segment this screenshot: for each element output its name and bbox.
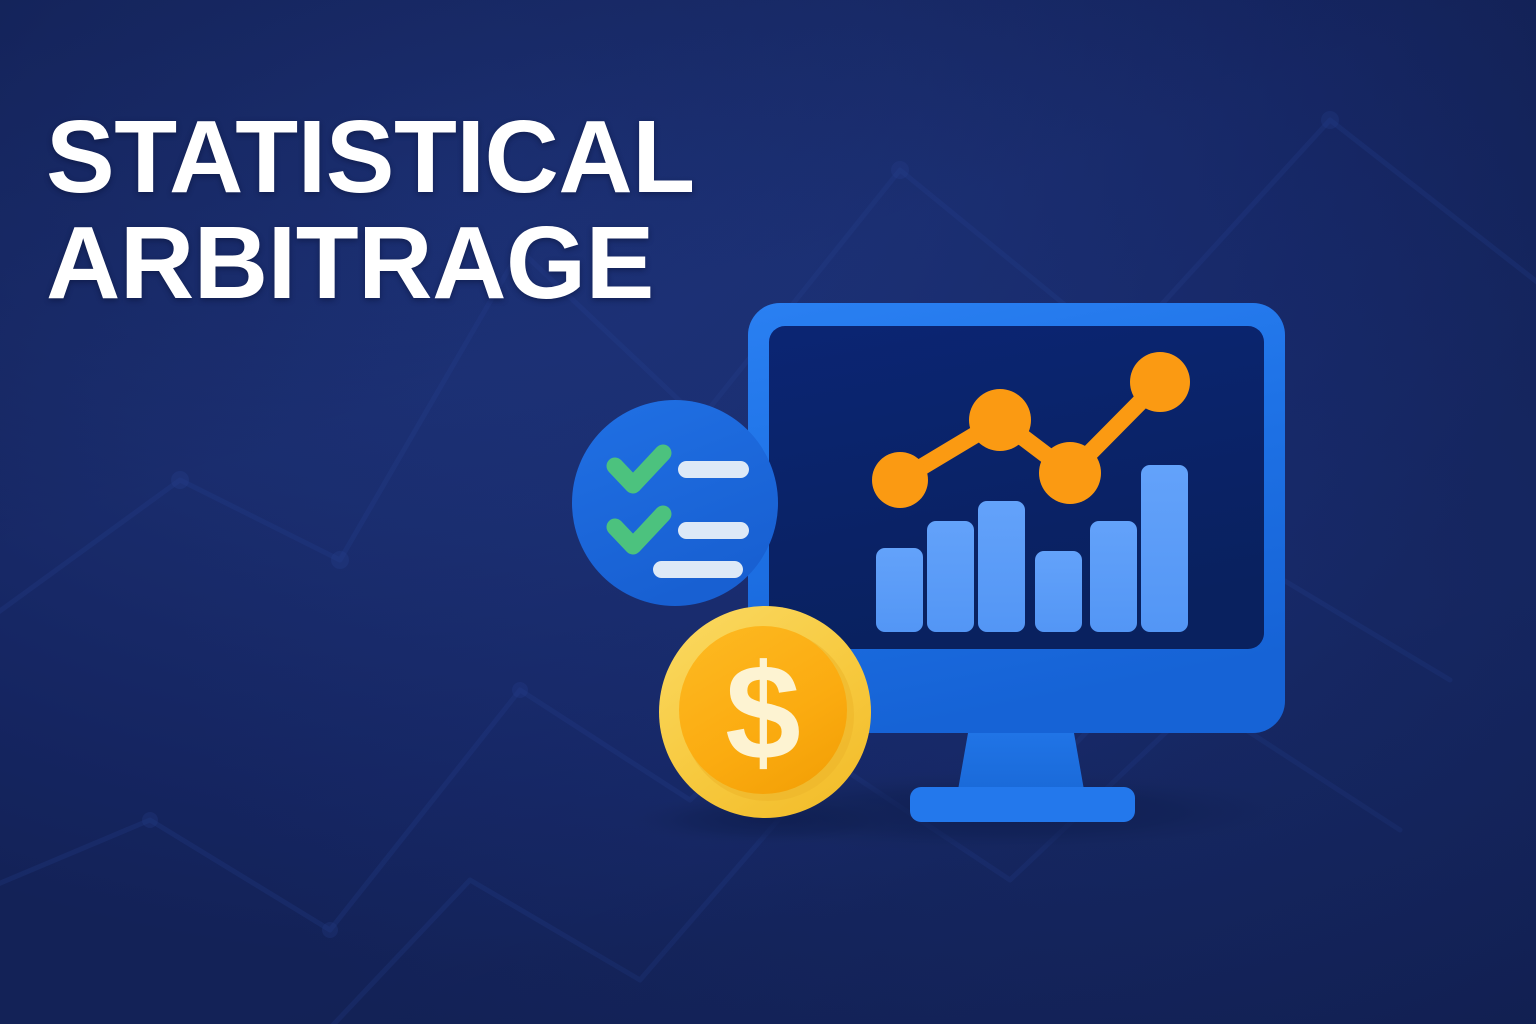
monitor-stand-base <box>910 787 1135 822</box>
chart-bar <box>978 501 1025 632</box>
chart-bar <box>927 521 974 632</box>
trading-analytics-illustration: $ <box>0 0 1536 1024</box>
chart-bar <box>1035 551 1082 632</box>
trend-marker <box>969 389 1031 451</box>
trend-marker <box>1039 442 1101 504</box>
checklist-circle <box>572 400 778 606</box>
chart-bar <box>1090 521 1137 632</box>
chart-bar <box>876 548 923 632</box>
checklist-bar <box>678 522 749 539</box>
dollar-coin: $ <box>659 606 871 818</box>
coin-dollar-symbol: $ <box>725 636 801 788</box>
trend-marker <box>872 452 928 508</box>
checklist-bar <box>678 461 749 478</box>
trend-marker <box>1130 352 1190 412</box>
chart-bar <box>1141 465 1188 632</box>
poster-canvas: STATISTICAL ARBITRAGE <box>0 0 1536 1024</box>
monitor-stand-neck <box>958 733 1084 790</box>
checklist-bar <box>653 561 743 578</box>
